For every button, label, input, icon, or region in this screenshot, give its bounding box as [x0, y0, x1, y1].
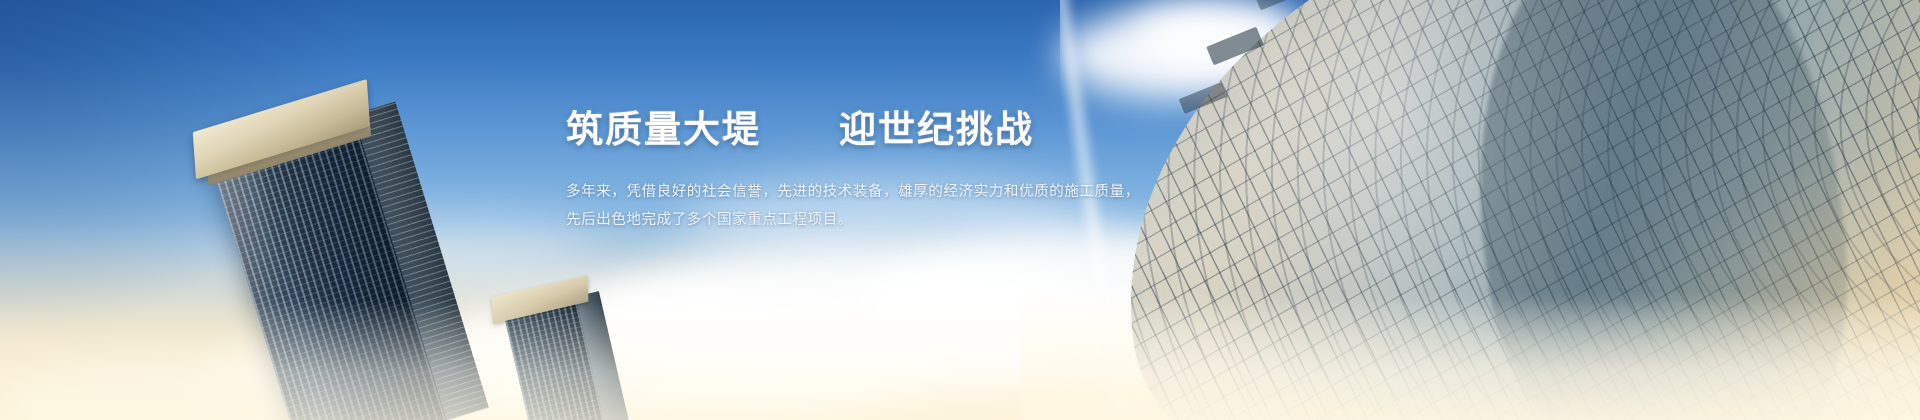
- banner-subtitle: 多年来，凭借良好的社会信誉，先进的技术装备，雄厚的经济实力和优质的施工质量， 先…: [566, 178, 1286, 234]
- banner-copy: 筑质量大堤 迎世纪挑战 多年来，凭借良好的社会信誉，先进的技术装备，雄厚的经济实…: [566, 108, 1286, 234]
- banner-headline: 筑质量大堤 迎世纪挑战: [566, 108, 1286, 152]
- banner-subtitle-line-1: 多年来，凭借良好的社会信誉，先进的技术装备，雄厚的经济实力和优质的施工质量，: [566, 178, 1286, 206]
- hero-banner: 筑质量大堤 迎世纪挑战 多年来，凭借良好的社会信誉，先进的技术装备，雄厚的经济实…: [0, 0, 1920, 420]
- banner-subtitle-line-2: 先后出色地完成了多个国家重点工程项目。: [566, 206, 1286, 234]
- right-skyscraper-bottom-fade: [1020, 290, 1920, 420]
